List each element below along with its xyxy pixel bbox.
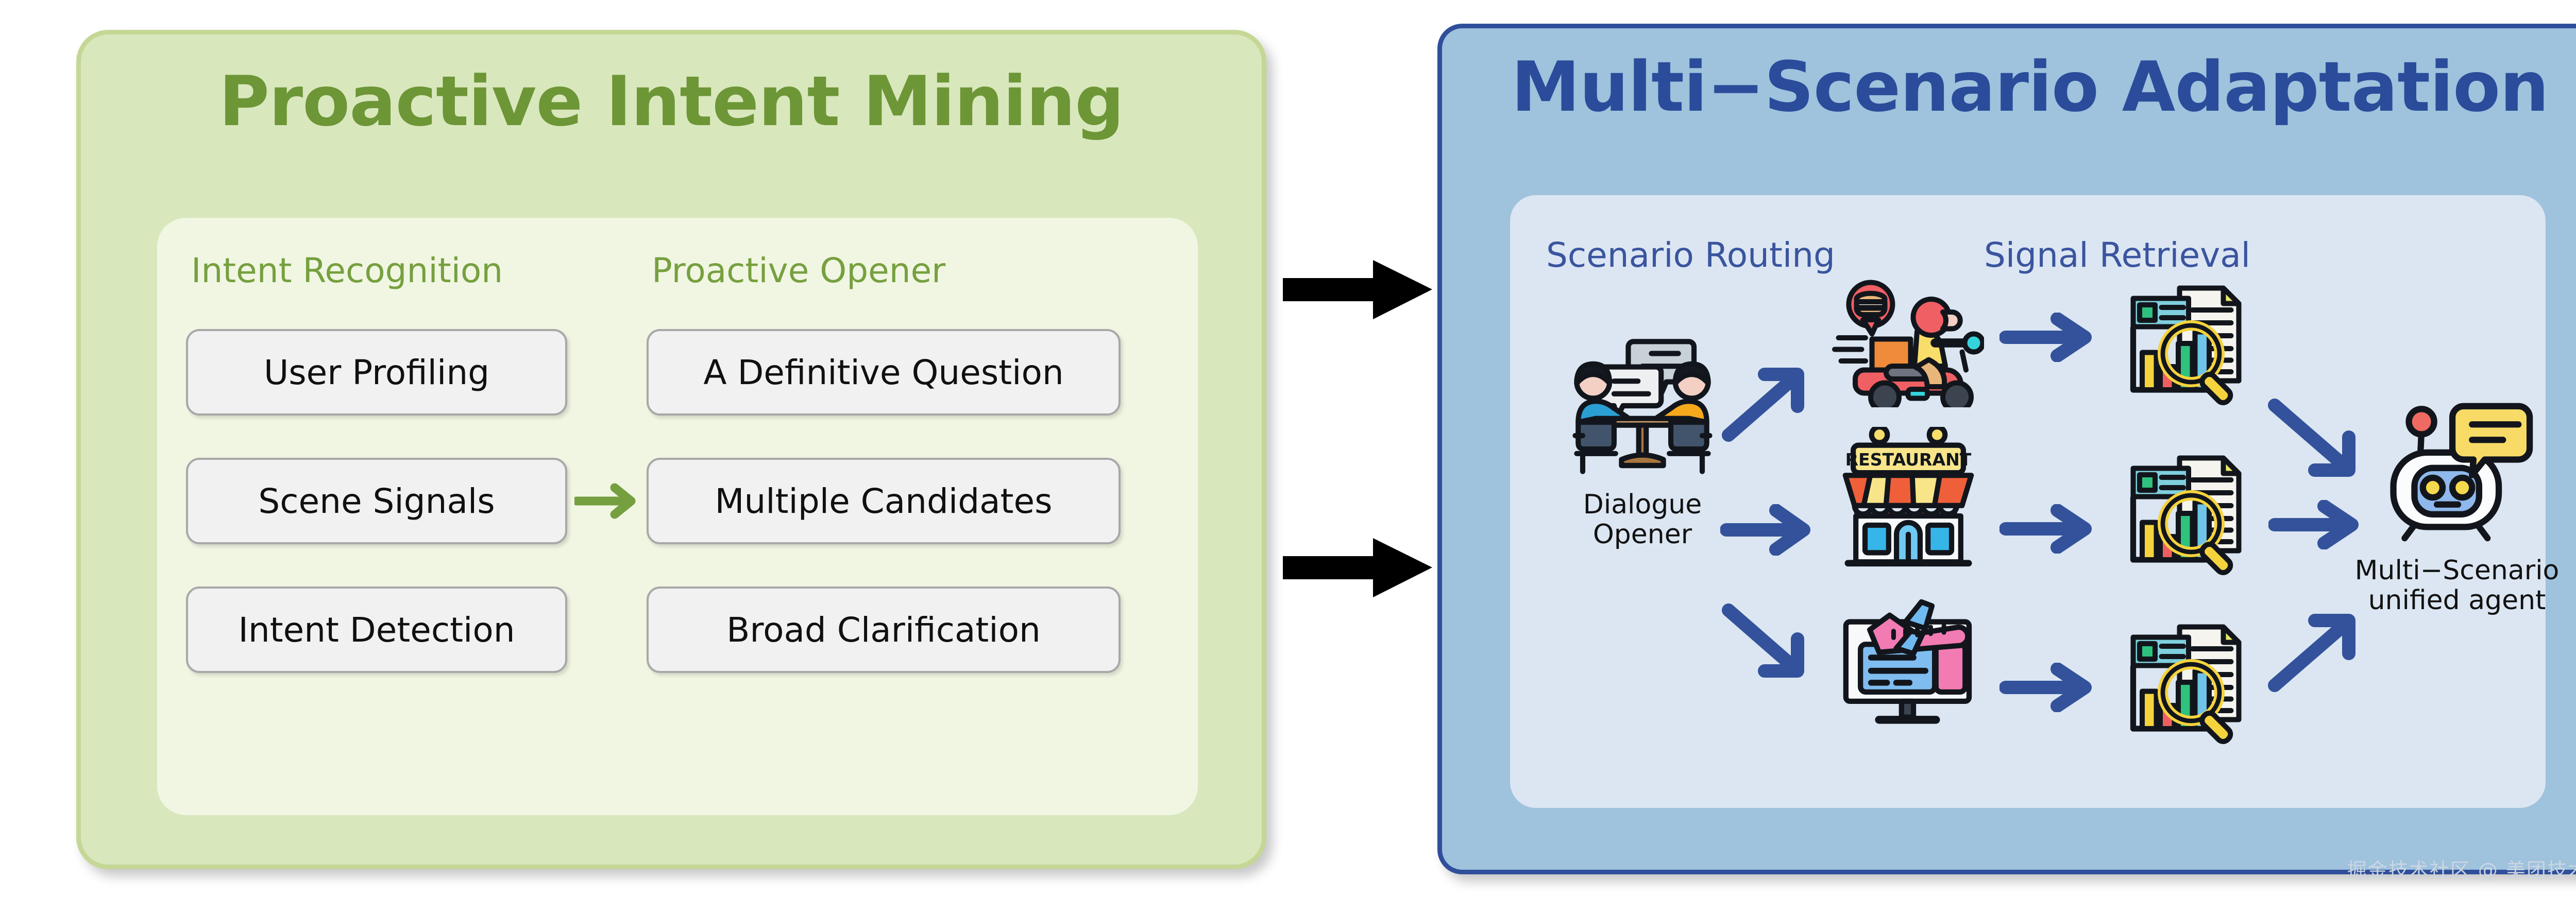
blue-arrow-icon-to-restaurant (1720, 504, 1813, 556)
blue-arrow-icon-to-delivery (1721, 365, 1809, 442)
proactive-intent-mining-panel: Proactive Intent Mining Intent Recogniti… (76, 30, 1266, 869)
column-heading-proactive-opener: Proactive Opener (652, 251, 945, 290)
heading-scenario-routing: Scenario Routing (1546, 235, 1835, 275)
column-heading-intent-recognition: Intent Recognition (191, 251, 503, 290)
data-analysis-report-icon-delivery (2124, 282, 2253, 410)
chip-a-definitive-question[interactable]: A Definitive Question (647, 329, 1121, 416)
multi-scenario-unified-agent-caption: Multi−Scenariounified agent (2333, 556, 2576, 615)
black-right-arrow-icon-bottom (1283, 536, 1432, 600)
chip-scene-signals[interactable]: Scene Signals (186, 458, 567, 544)
food-delivery-scooter-icon (1829, 273, 1984, 407)
blue-arrow-icon-flight-to-signal (1999, 663, 2095, 712)
dialogue-opener-caption: DialogueOpener (1542, 490, 1743, 549)
flight-booking-screen-icon (1832, 593, 1986, 732)
blue-arrow-icon-delivery-to-signal (1999, 313, 2095, 362)
right-panel-title: Multi−Scenario Adaptation (1442, 47, 2576, 127)
blue-arrow-icon-signal-to-agent-bottom (2267, 612, 2360, 695)
data-analysis-report-icon-restaurant (2124, 452, 2253, 580)
chip-multiple-candidates[interactable]: Multiple Candidates (647, 458, 1121, 544)
left-panel-inner-card: Intent Recognition Proactive Opener User… (157, 218, 1198, 815)
restaurant-sign-label: RESTAURANT (1845, 450, 1972, 470)
chatbot-robot-icon (2381, 395, 2535, 549)
chip-user-profiling[interactable]: User Profiling (186, 329, 567, 416)
right-panel-inner-card: Scenario Routing Signal Retrieval (1510, 195, 2546, 808)
multi-scenario-adaptation-panel: Multi−Scenario Adaptation Scenario Routi… (1437, 24, 2576, 874)
right-arrow-icon (574, 481, 640, 521)
blue-arrow-icon-restaurant-to-signal (1999, 504, 2095, 554)
left-panel-title: Proactive Intent Mining (81, 61, 1262, 142)
black-right-arrow-icon-top (1283, 257, 1432, 322)
blue-arrow-icon-signal-to-agent-mid (2268, 500, 2361, 549)
data-analysis-report-icon-flight (2124, 620, 2253, 749)
restaurant-storefront-icon: RESTAURANT (1834, 427, 1983, 571)
dialogue-two-people-icon (1568, 331, 1717, 480)
diagram-canvas: Proactive Intent Mining Intent Recogniti… (0, 0, 2576, 897)
blue-arrow-icon-signal-to-agent-top (2267, 396, 2360, 478)
watermark-text: 掘金技术社区 @ 美团技术团队 (2347, 854, 2576, 883)
blue-arrow-icon-to-flight (1721, 602, 1809, 679)
chip-broad-clarification[interactable]: Broad Clarification (647, 586, 1121, 673)
chip-intent-detection[interactable]: Intent Detection (186, 586, 567, 673)
heading-signal-retrieval: Signal Retrieval (1984, 235, 2250, 275)
